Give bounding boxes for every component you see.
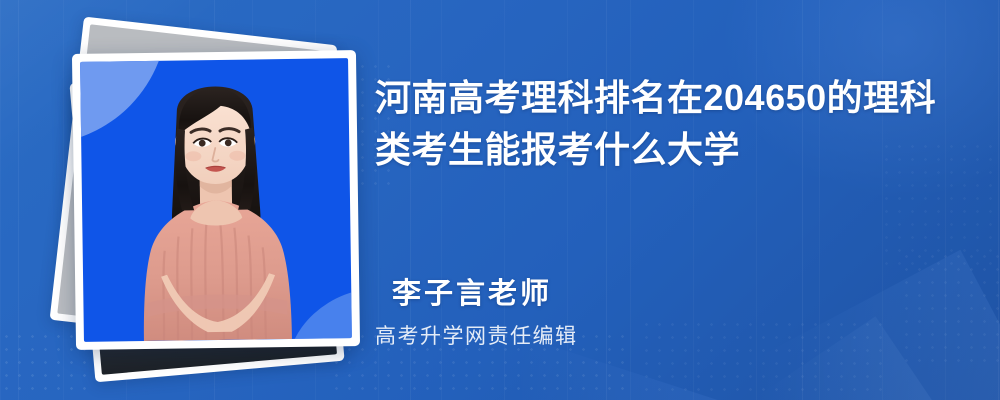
article-title: 河南高考理科排名在204650的理科类考生能报考什么大学 bbox=[375, 72, 965, 176]
author-portrait bbox=[80, 58, 352, 342]
author-role: 高考升学网责任编辑 bbox=[375, 320, 578, 350]
article-header-banner: 河南高考理科排名在204650的理科类考生能报考什么大学 李子言老师 高考升学网… bbox=[0, 0, 1000, 400]
header-text-column: 河南高考理科排名在204650的理科类考生能报考什么大学 李子言老师 高考升学网… bbox=[372, 0, 972, 400]
author-photo-card bbox=[72, 50, 360, 350]
author-photo-stack bbox=[44, 20, 344, 375]
author-name: 李子言老师 bbox=[392, 270, 552, 312]
author-id-photo bbox=[80, 58, 352, 342]
